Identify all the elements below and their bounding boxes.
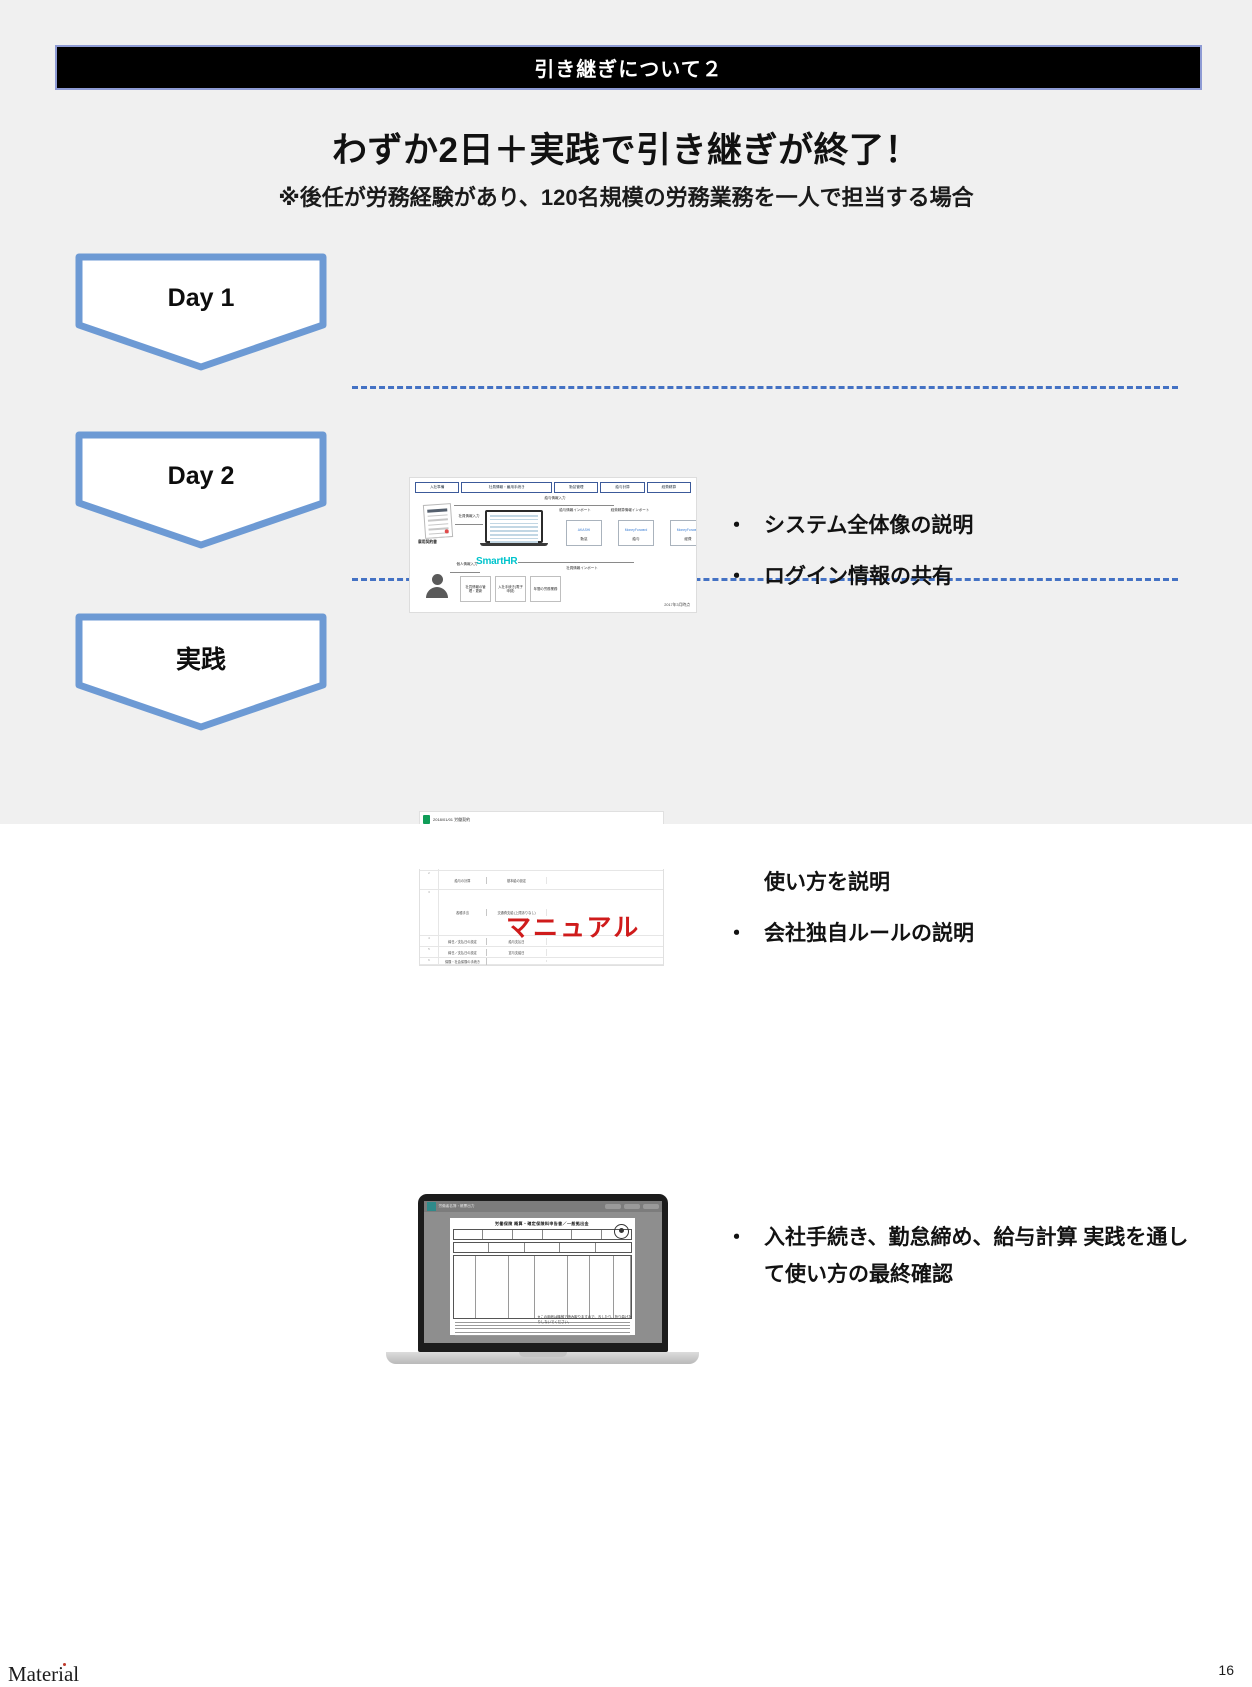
form-grid [453, 1255, 632, 1319]
table-row[interactable]: 7 その他設定・項目 [420, 965, 663, 966]
laptop-lid: 労働者名簿・帳票出力 労働保険 概算・確定保険料申告書／一般拠出金 [418, 1194, 668, 1352]
table-cell[interactable]: 賞与支給日 [487, 949, 547, 956]
sheets-icon [423, 815, 430, 824]
step-row-day2: Day 2 2018/01/01 労働契約 ファイル 編集 表示 挿入 表示形式… [0, 400, 1252, 580]
table-cell[interactable]: 締日／支払日の設定 [439, 938, 487, 945]
table-cell[interactable]: 給与の計算 [439, 877, 487, 884]
bullet-text: 入社手続き、勤怠締め、給与計算 実践を通して使い方の最終確認 [764, 1220, 1196, 1294]
app-icon [427, 1202, 436, 1211]
table-cell[interactable]: 各種手当 [439, 909, 487, 916]
row-number: 2 [420, 871, 439, 889]
table-row[interactable]: 2 給与の計算 基本給の設定 [420, 871, 663, 890]
laptop-base [386, 1352, 699, 1364]
bullet-marker-icon: ・ [726, 1220, 764, 1257]
step-shape-day1: Day 1 [74, 252, 328, 372]
laptop-screen: 労働者名簿・帳票出力 労働保険 概算・確定保険料申告書／一般拠出金 [424, 1201, 662, 1343]
step-row-practice: 実践 労働者名簿・帳票出力 労働保険 概算・確定保険料 [0, 590, 1252, 800]
list-item: ・ 入社手続き、勤怠締め、給与計算 実践を通して使い方の最終確認 [726, 1220, 1196, 1294]
form-document: 労働保険 概算・確定保険料申告書／一般拠出金 [450, 1218, 635, 1335]
row-number: 4 [420, 936, 439, 946]
step-shape-day2: Day 2 [74, 430, 328, 550]
row-number: 3 [420, 890, 439, 935]
table-cell[interactable] [487, 960, 547, 962]
step-label-day1: Day 1 [74, 252, 328, 344]
row-number: 7 [420, 965, 439, 966]
seal-circle-icon [614, 1224, 629, 1239]
slide-canvas: 引き継ぎについて２ わずか2日＋実践で引き継ぎが終了！ ※後任が労務経験があり、… [0, 0, 1252, 869]
bullet-text: 会社独自ルールの説明 [764, 916, 1196, 953]
list-item: ・ 会社独自ルールの説明 [726, 916, 1196, 953]
form-block [453, 1242, 632, 1253]
step-row-day1: Day 1 入社準備 社員情報・雇用手続き 勤怠管理 給与計算 経費精算 雇用契… [0, 240, 1252, 380]
bullet-list-practice: ・ 入社手続き、勤怠締め、給与計算 実践を通して使い方の最終確認 [726, 1220, 1196, 1308]
form-title: 労働保険 概算・確定保険料申告書／一般拠出金 [453, 1221, 632, 1227]
footer-logo-text: Material [8, 1662, 79, 1686]
row-number: 6 [420, 958, 439, 964]
form-footer-note: ※この用紙は機械で読み取りますので、汚したり、折り曲げたりしないでください。 [538, 1314, 635, 1324]
app-name: 労働者名簿・帳票出力 [439, 1204, 475, 1209]
spreadsheet-grid[interactable]: 1 労働時間 定時勤務／シフト勤務 該当を選択 2 給与の計算 基本給の設定 3… [420, 860, 663, 966]
page-title: わずか2日＋実践で引き継ぎが終了！ [0, 122, 1252, 173]
slide-title-text: 引き継ぎについて２ [534, 53, 722, 82]
section-divider-1 [352, 386, 1178, 389]
form-block [453, 1229, 632, 1240]
row-number: 5 [420, 947, 439, 957]
settings-button[interactable] [643, 1204, 659, 1209]
app-toolbar: 労働者名簿・帳票出力 [424, 1201, 662, 1212]
laptop-notch [519, 1352, 567, 1357]
step-shape-practice: 実践 [74, 612, 328, 732]
app-actions[interactable] [605, 1204, 659, 1209]
slide-title-bar: 引き継ぎについて２ [55, 45, 1202, 90]
step-label-day2: Day 2 [74, 430, 328, 522]
table-cell[interactable]: 基本給の設定 [487, 877, 547, 884]
page-number: 16 [1218, 1662, 1234, 1678]
spreadsheet-doc-name: 2018/01/01 労働契約 [433, 817, 470, 823]
slide-footer: Material 16 [0, 824, 1252, 869]
step-label-practice: 実践 [74, 612, 328, 704]
print-button[interactable] [624, 1204, 640, 1209]
table-cell[interactable]: 締日／支払日の設定 [439, 949, 487, 956]
download-button[interactable] [605, 1204, 621, 1209]
manual-overlay-text: マニュアル [506, 908, 640, 944]
table-row[interactable]: 5 締日／支払日の設定 賞与支給日 [420, 947, 663, 958]
logo-dot-icon [63, 1663, 66, 1666]
table-cell[interactable]: その他設定・項目 [439, 964, 487, 966]
thumbnail-laptop-form[interactable]: 労働者名簿・帳票出力 労働保険 概算・確定保険料申告書／一般拠出金 [386, 1194, 699, 1380]
footer-logo: Material [8, 1662, 79, 1687]
page-subtitle: ※後任が労務経験があり、120名規模の労務業務を一人で担当する場合 [0, 180, 1252, 212]
bullet-marker-icon: ・ [726, 916, 764, 953]
